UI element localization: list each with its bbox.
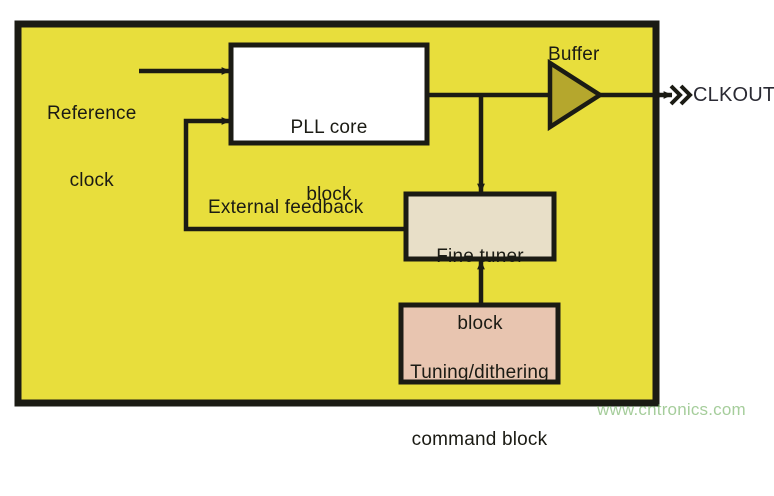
buffer-label: Buffer [548, 44, 600, 66]
tuning-dithering-label-line2: command block [401, 429, 558, 451]
pll-core-label-line1: PLL core [231, 117, 427, 139]
diagram-canvas: Reference clock PLL core block Buffer Ex… [0, 0, 774, 427]
fine-tuner-label-line1: Fine tuner [406, 246, 554, 268]
reference-clock-label-line1: Reference [47, 103, 136, 125]
reference-clock-label: Reference clock [47, 58, 136, 237]
reference-clock-label-line2: clock [47, 170, 136, 192]
external-feedback-label: External feedback [208, 197, 364, 219]
tuning-dithering-label-line1: Tuning/dithering [401, 362, 558, 384]
clkout-label: CLKOUT [693, 84, 774, 108]
watermark: www.cntronics.com [597, 400, 746, 420]
tuning-dithering-label: Tuning/dithering command block [401, 317, 558, 496]
pll-core-label: PLL core block [231, 72, 427, 251]
clkout-chevron-icon [671, 86, 690, 104]
